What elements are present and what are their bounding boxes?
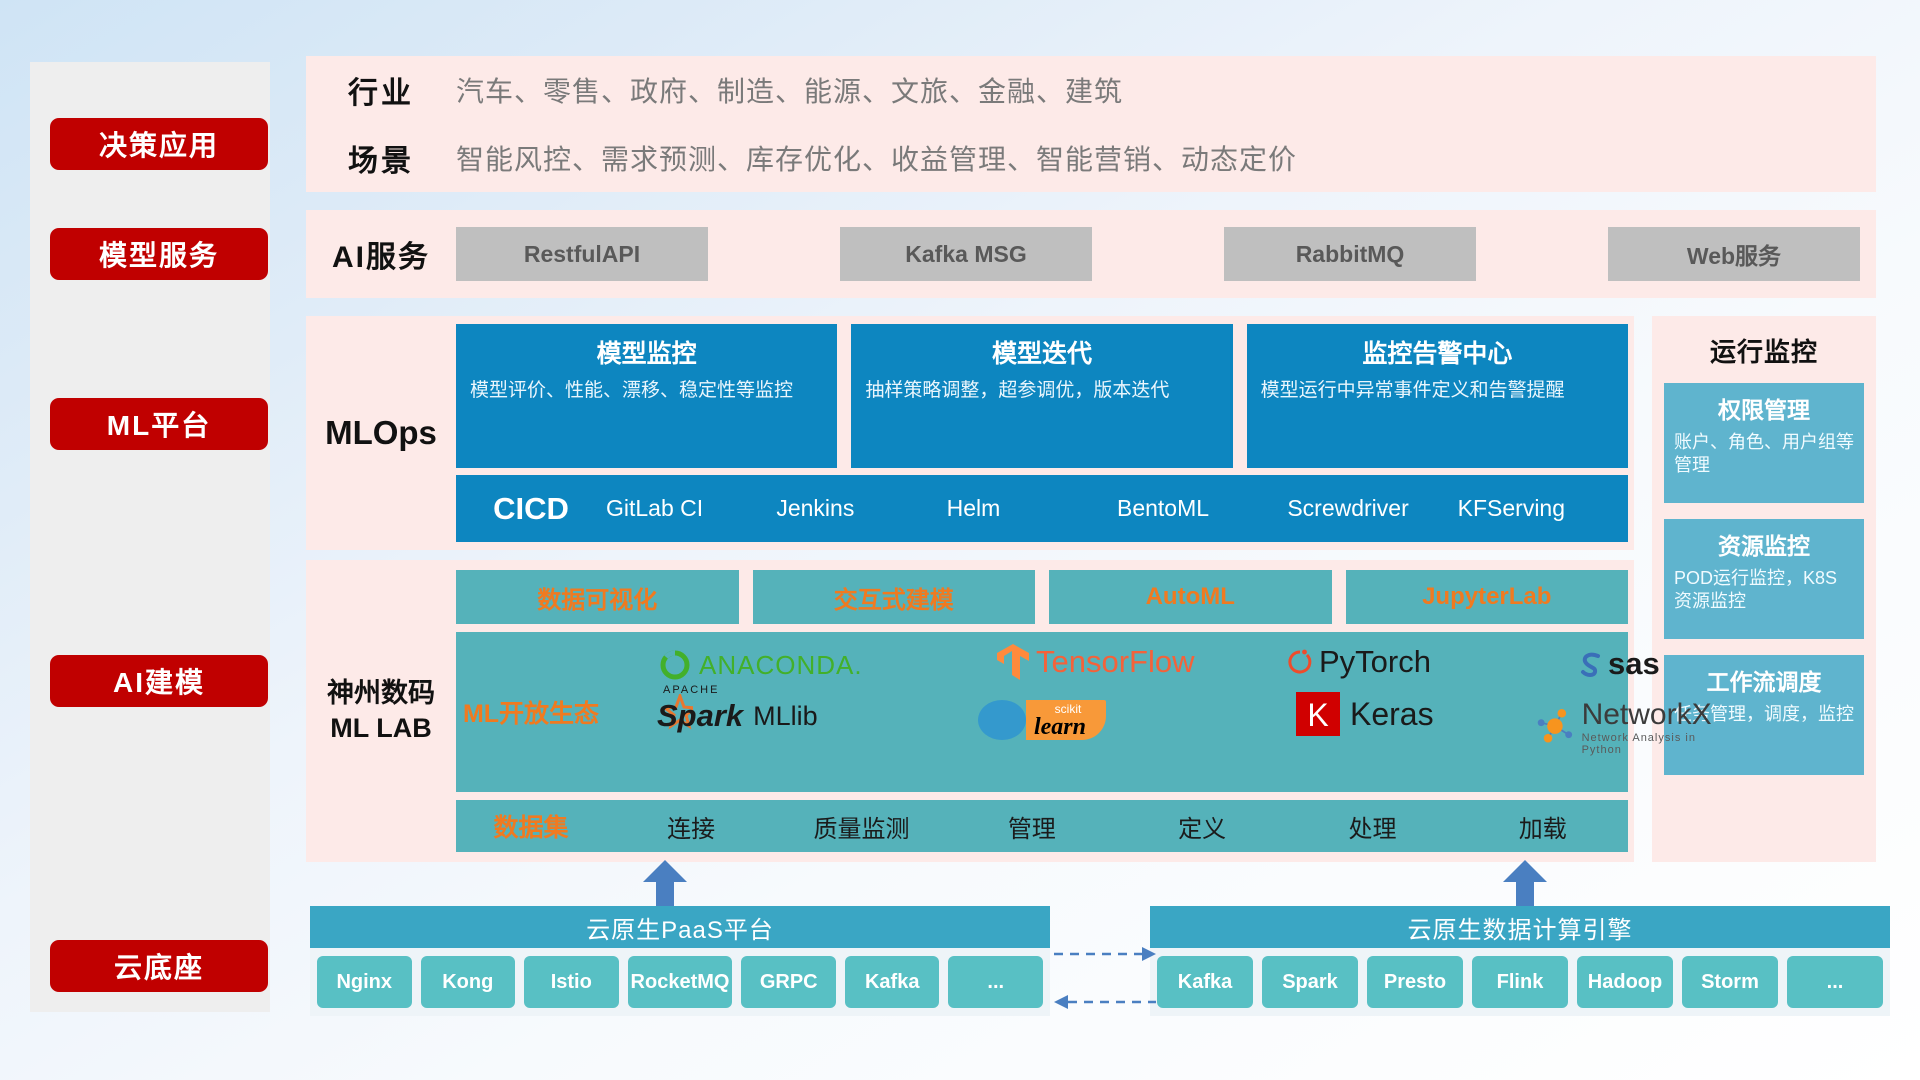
engine-chip-spark[interactable]: Spark (1262, 956, 1358, 1008)
engine-chip-kafka[interactable]: Kafka (1157, 956, 1253, 1008)
rail-chip-label: 模型服务 (99, 234, 219, 274)
tab-jupyterlab[interactable]: JupyterLab (1346, 570, 1629, 624)
card-desc: 模型运行中异常事件定义和告警提醒 (1261, 378, 1614, 404)
rail-chip-ml-platform[interactable]: ML平台 (50, 398, 268, 450)
monitor-card-permission[interactable]: 权限管理 账户、角色、用户组等管理 (1664, 383, 1864, 503)
cloud-engine-title: 云原生数据计算引擎 (1150, 906, 1890, 948)
runtime-monitor-title: 运行监控 (1664, 332, 1864, 369)
engine-chip-more[interactable]: ... (1787, 956, 1883, 1008)
sas-mark-icon (1576, 649, 1606, 679)
cloud-chip-grpc[interactable]: GRPC (741, 956, 836, 1008)
spark-logo-text: Spark (657, 698, 743, 733)
keras-mark-icon: K (1296, 692, 1340, 736)
rail-chip-label: AI建模 (113, 661, 205, 701)
keras-logo-text: Keras (1350, 696, 1434, 733)
tensorflow-logo: TensorFlow (996, 642, 1195, 682)
svg-text:learn: learn (1034, 714, 1086, 740)
rail-chip-label: ML平台 (107, 404, 211, 444)
cicd-item-bentoml[interactable]: BentoML (1117, 497, 1287, 520)
mlops-content: 模型监控 模型评价、性能、漂移、稳定性等监控 模型迭代 抽样策略调整，超参调优，… (456, 316, 1634, 550)
card-desc: 抽样策略调整，超参调优，版本迭代 (865, 378, 1218, 404)
architecture-diagram: 决策应用 模型服务 ML平台 AI建模 云底座 行业 汽车、零售、政府、制造、能… (0, 0, 1920, 1080)
networkx-logo-text: NetworkX (1582, 698, 1718, 732)
ml-ecosystem-label: ML开放生态 (456, 694, 606, 730)
ai-service-chip-kafka-msg[interactable]: Kafka MSG (840, 227, 1092, 281)
rail-chip-label: 云底座 (114, 946, 204, 986)
cloud-paas-chip-list: Nginx Kong Istio RocketMQ GRPC Kafka ... (310, 948, 1050, 1016)
scikit-learn-mark-icon: scikit learn (976, 694, 1126, 742)
mlops-panel: MLOps 模型监控 模型评价、性能、漂移、稳定性等监控 模型迭代 抽样策略调整… (306, 316, 1634, 550)
runtime-monitor-panel: 运行监控 权限管理 账户、角色、用户组等管理 资源监控 POD运行监控，K8S资… (1652, 316, 1876, 862)
cloud-paas-title: 云原生PaaS平台 (310, 906, 1050, 948)
cicd-item-list: GitLab CI Jenkins Helm BentoML Screwdriv… (606, 497, 1628, 520)
card-title: 模型监控 (470, 334, 823, 370)
industry-label: 行业 (306, 68, 456, 112)
rail-chip-model-service[interactable]: 模型服务 (50, 228, 268, 280)
tab-automl[interactable]: AutoML (1049, 570, 1332, 624)
ai-modeling-content: 数据可视化 交互式建模 AutoML JupyterLab ML开放生态 ANA… (456, 560, 1634, 862)
cicd-item-jenkins[interactable]: Jenkins (776, 497, 946, 520)
card-desc: 账户、角色、用户组等管理 (1674, 431, 1854, 478)
pytorch-logo-text: PyTorch (1319, 644, 1431, 680)
cloud-chip-istio[interactable]: Istio (524, 956, 619, 1008)
dataset-item-process[interactable]: 处理 (1287, 809, 1457, 844)
ai-service-panel: AI服务 RestfulAPI Kafka MSG RabbitMQ Web服务 (306, 210, 1876, 298)
tensorflow-mark-icon (996, 642, 1030, 682)
sas-logo: sas (1576, 646, 1660, 682)
engine-chip-presto[interactable]: Presto (1367, 956, 1463, 1008)
cloud-chip-rocketmq[interactable]: RocketMQ (628, 956, 733, 1008)
ai-service-chip-rabbitmq[interactable]: RabbitMQ (1224, 227, 1476, 281)
card-desc: 模型评价、性能、漂移、稳定性等监控 (470, 378, 823, 404)
ml-lab-label-line2: ML LAB (306, 711, 456, 746)
engine-chip-storm[interactable]: Storm (1682, 956, 1778, 1008)
anaconda-mark-icon (658, 648, 692, 682)
svg-text:K: K (1307, 697, 1328, 733)
mlops-card-model-monitoring[interactable]: 模型监控 模型评价、性能、漂移、稳定性等监控 (456, 324, 837, 468)
pytorch-logo: PyTorch (1286, 644, 1431, 680)
ai-service-chip-list: RestfulAPI Kafka MSG RabbitMQ Web服务 (456, 227, 1876, 281)
dataset-item-quality[interactable]: 质量监测 (776, 809, 946, 844)
mlops-card-alert-center[interactable]: 监控告警中心 模型运行中异常事件定义和告警提醒 (1247, 324, 1628, 468)
arrow-up-engine-icon (1500, 860, 1550, 906)
cloud-chip-more[interactable]: ... (948, 956, 1043, 1008)
cloud-chip-nginx[interactable]: Nginx (317, 956, 412, 1008)
card-desc: POD运行监控，K8S资源监控 (1674, 567, 1854, 614)
networkx-logo-subtext: Network Analysis in Python (1582, 732, 1718, 756)
cloud-paas-group: 云原生PaaS平台 Nginx Kong Istio RocketMQ GRPC… (310, 906, 1050, 1016)
networkx-mark-icon (1536, 706, 1576, 748)
ai-service-label: AI服务 (306, 232, 456, 276)
cicd-item-helm[interactable]: Helm (947, 497, 1117, 520)
cicd-item-kfserving[interactable]: KFServing (1458, 497, 1628, 520)
scenario-label: 场景 (306, 136, 456, 180)
ml-ecosystem-logos: ANACONDA. TensorFlow (606, 632, 1628, 792)
ml-ecosystem-bar: ML开放生态 ANACONDA. (456, 632, 1628, 792)
tab-interactive-modeling[interactable]: 交互式建模 (753, 570, 1036, 624)
cloud-engine-chip-list: Kafka Spark Presto Flink Hadoop Storm ..… (1150, 948, 1890, 1016)
mllib-logo-text: MLlib (753, 701, 818, 732)
engine-chip-flink[interactable]: Flink (1472, 956, 1568, 1008)
arrow-up-paas-icon (640, 860, 690, 906)
dataset-item-manage[interactable]: 管理 (947, 809, 1117, 844)
tensorflow-logo-text: TensorFlow (1036, 644, 1195, 680)
ml-lab-label-line1: 神州数码 (306, 676, 456, 711)
cloud-engine-group: 云原生数据计算引擎 Kafka Spark Presto Flink Hadoo… (1150, 906, 1890, 1016)
ml-lab-label: 神州数码 ML LAB (306, 676, 456, 746)
dataset-item-connect[interactable]: 连接 (606, 809, 776, 844)
rail-chip-label: 决策应用 (99, 124, 219, 164)
cicd-label: CICD (456, 491, 606, 527)
dataset-item-load[interactable]: 加载 (1458, 809, 1628, 844)
dataset-label: 数据集 (456, 808, 606, 844)
layer-rail (30, 62, 270, 1012)
industry-scenario-panel: 行业 汽车、零售、政府、制造、能源、文旅、金融、建筑 场景 智能风控、需求预测、… (306, 56, 1876, 192)
cloud-chip-kong[interactable]: Kong (421, 956, 516, 1008)
cicd-item-gitlab-ci[interactable]: GitLab CI (606, 497, 776, 520)
cicd-bar: CICD GitLab CI Jenkins Helm BentoML Scre… (456, 475, 1628, 542)
monitor-card-resource[interactable]: 资源监控 POD运行监控，K8S资源监控 (1664, 519, 1864, 639)
rail-chip-decision[interactable]: 决策应用 (50, 118, 268, 170)
ai-modeling-panel: 神州数码 ML LAB 数据可视化 交互式建模 AutoML JupyterLa… (306, 560, 1634, 862)
rail-chip-ai-modeling[interactable]: AI建模 (50, 655, 268, 707)
rail-chip-cloud-base[interactable]: 云底座 (50, 940, 268, 992)
mlops-card-model-iteration[interactable]: 模型迭代 抽样策略调整，超参调优，版本迭代 (851, 324, 1232, 468)
sas-logo-text: sas (1608, 646, 1660, 682)
dataset-item-define[interactable]: 定义 (1117, 809, 1287, 844)
card-title: 资源监控 (1674, 527, 1854, 561)
card-title: 模型迭代 (865, 334, 1218, 370)
engine-chip-hadoop[interactable]: Hadoop (1577, 956, 1673, 1008)
spark-apache-text: APACHE (663, 684, 719, 696)
scenario-value: 智能风控、需求预测、库存优化、收益管理、智能营销、动态定价 (456, 138, 1297, 178)
tab-data-visualization[interactable]: 数据可视化 (456, 570, 739, 624)
networkx-logo: NetworkX Network Analysis in Python (1536, 698, 1718, 756)
card-title: 监控告警中心 (1261, 334, 1614, 370)
scikit-learn-logo: scikit learn (976, 694, 1126, 742)
card-title: 工作流调度 (1674, 663, 1854, 697)
dataset-bar: 数据集 连接 质量监测 管理 定义 处理 加载 (456, 800, 1628, 852)
modeling-tab-list: 数据可视化 交互式建模 AutoML JupyterLab (456, 570, 1628, 624)
keras-logo: K Keras (1296, 692, 1434, 736)
spark-mllib-logo: APACHE Spark MLlib (651, 694, 818, 738)
industry-row: 行业 汽车、零售、政府、制造、能源、文旅、金融、建筑 (306, 56, 1876, 124)
dataset-item-list: 连接 质量监测 管理 定义 处理 加载 (606, 809, 1628, 844)
cloud-chip-kafka[interactable]: Kafka (845, 956, 940, 1008)
cicd-item-screwdriver[interactable]: Screwdriver (1287, 497, 1457, 520)
mlops-card-list: 模型监控 模型评价、性能、漂移、稳定性等监控 模型迭代 抽样策略调整，超参调优，… (456, 324, 1628, 468)
dashed-exchange-arrows-icon (1050, 940, 1160, 1020)
ai-service-chip-web[interactable]: Web服务 (1608, 227, 1860, 281)
scenario-row: 场景 智能风控、需求预测、库存优化、收益管理、智能营销、动态定价 (306, 124, 1876, 192)
mlops-label: MLOps (306, 414, 456, 452)
anaconda-logo-text: ANACONDA. (699, 650, 863, 681)
pytorch-mark-icon (1286, 646, 1314, 678)
anaconda-logo: ANACONDA. (658, 648, 863, 682)
industry-value: 汽车、零售、政府、制造、能源、文旅、金融、建筑 (456, 70, 1123, 110)
ai-service-chip-restfulapi[interactable]: RestfulAPI (456, 227, 708, 281)
card-title: 权限管理 (1674, 391, 1854, 425)
